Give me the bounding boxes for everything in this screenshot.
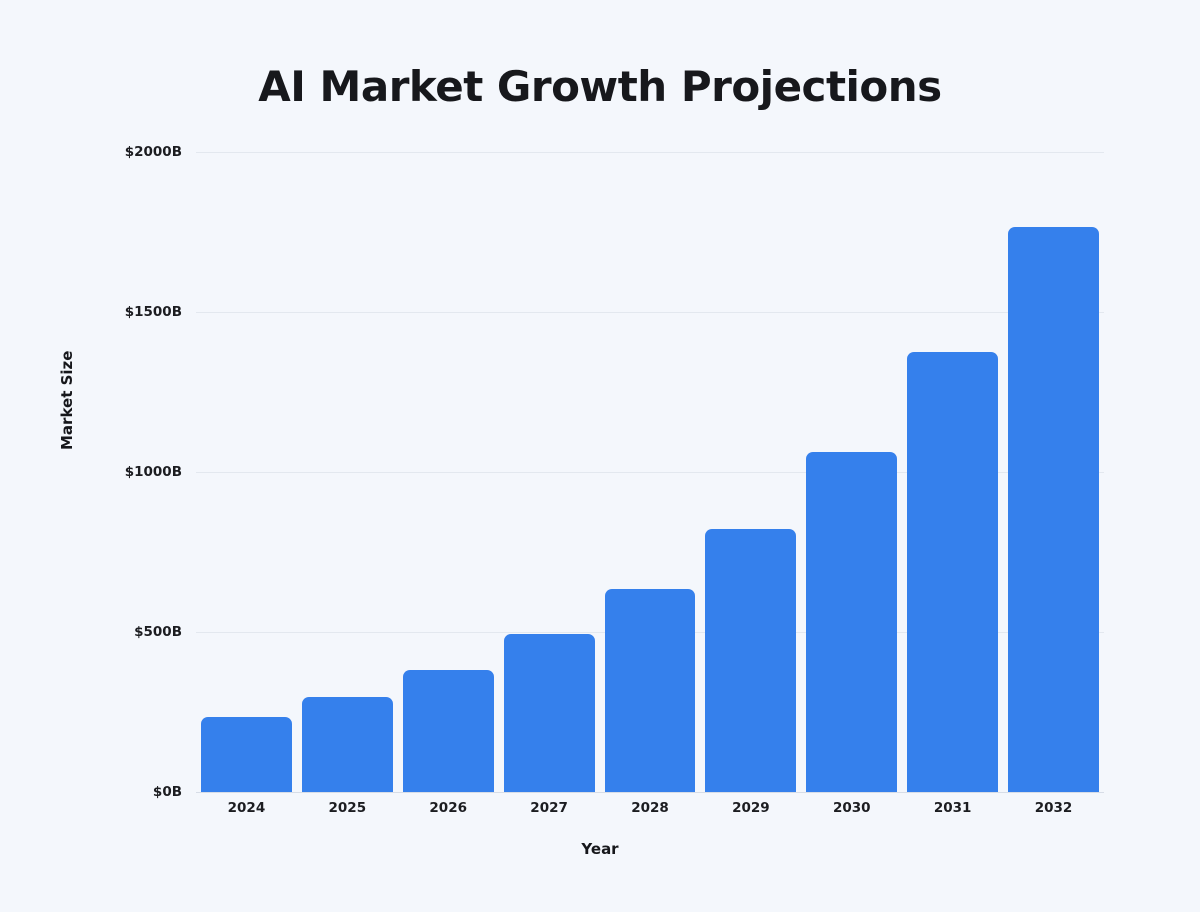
y-axis-tick-label: $2000B	[62, 144, 182, 160]
bar-group[interactable]	[201, 152, 292, 792]
bar[interactable]	[403, 670, 494, 792]
x-axis-tick-label: 2032	[1008, 800, 1099, 816]
bar-group[interactable]	[302, 152, 393, 792]
bar[interactable]	[806, 452, 897, 792]
y-axis-tick-label: $500B	[62, 624, 182, 640]
x-axis-tick-label: 2026	[403, 800, 494, 816]
x-axis-title: Year	[0, 840, 1200, 858]
bar[interactable]	[504, 634, 595, 792]
bar[interactable]	[705, 529, 796, 792]
x-axis-tick-label: 2025	[302, 800, 393, 816]
bar-group[interactable]	[705, 152, 796, 792]
y-axis-title: Market Size	[58, 351, 76, 450]
y-axis-tick-label: $1500B	[62, 304, 182, 320]
bar[interactable]	[605, 589, 696, 792]
bar[interactable]	[907, 352, 998, 792]
chart-title: AI Market Growth Projections	[0, 62, 1200, 111]
bar-series	[196, 152, 1104, 792]
chart-container: AI Market Growth Projections $0B$500B$10…	[0, 0, 1200, 912]
bar[interactable]	[201, 717, 292, 792]
x-axis-tick-label: 2030	[806, 800, 897, 816]
x-axis-tick-label: 2027	[504, 800, 595, 816]
y-axis-tick-label: $0B	[62, 784, 182, 800]
bar-group[interactable]	[1008, 152, 1099, 792]
bar-group[interactable]	[907, 152, 998, 792]
x-axis-tick-label: 2029	[705, 800, 796, 816]
x-axis-line	[196, 792, 1104, 793]
y-axis-tick-label: $1000B	[62, 464, 182, 480]
bar-group[interactable]	[605, 152, 696, 792]
bar[interactable]	[1008, 227, 1099, 792]
bar[interactable]	[302, 697, 393, 792]
bar-group[interactable]	[806, 152, 897, 792]
bar-group[interactable]	[504, 152, 595, 792]
bar-group[interactable]	[403, 152, 494, 792]
x-axis-tick-label: 2024	[201, 800, 292, 816]
x-axis-tick-label: 2028	[605, 800, 696, 816]
x-axis-tick-label: 2031	[907, 800, 998, 816]
